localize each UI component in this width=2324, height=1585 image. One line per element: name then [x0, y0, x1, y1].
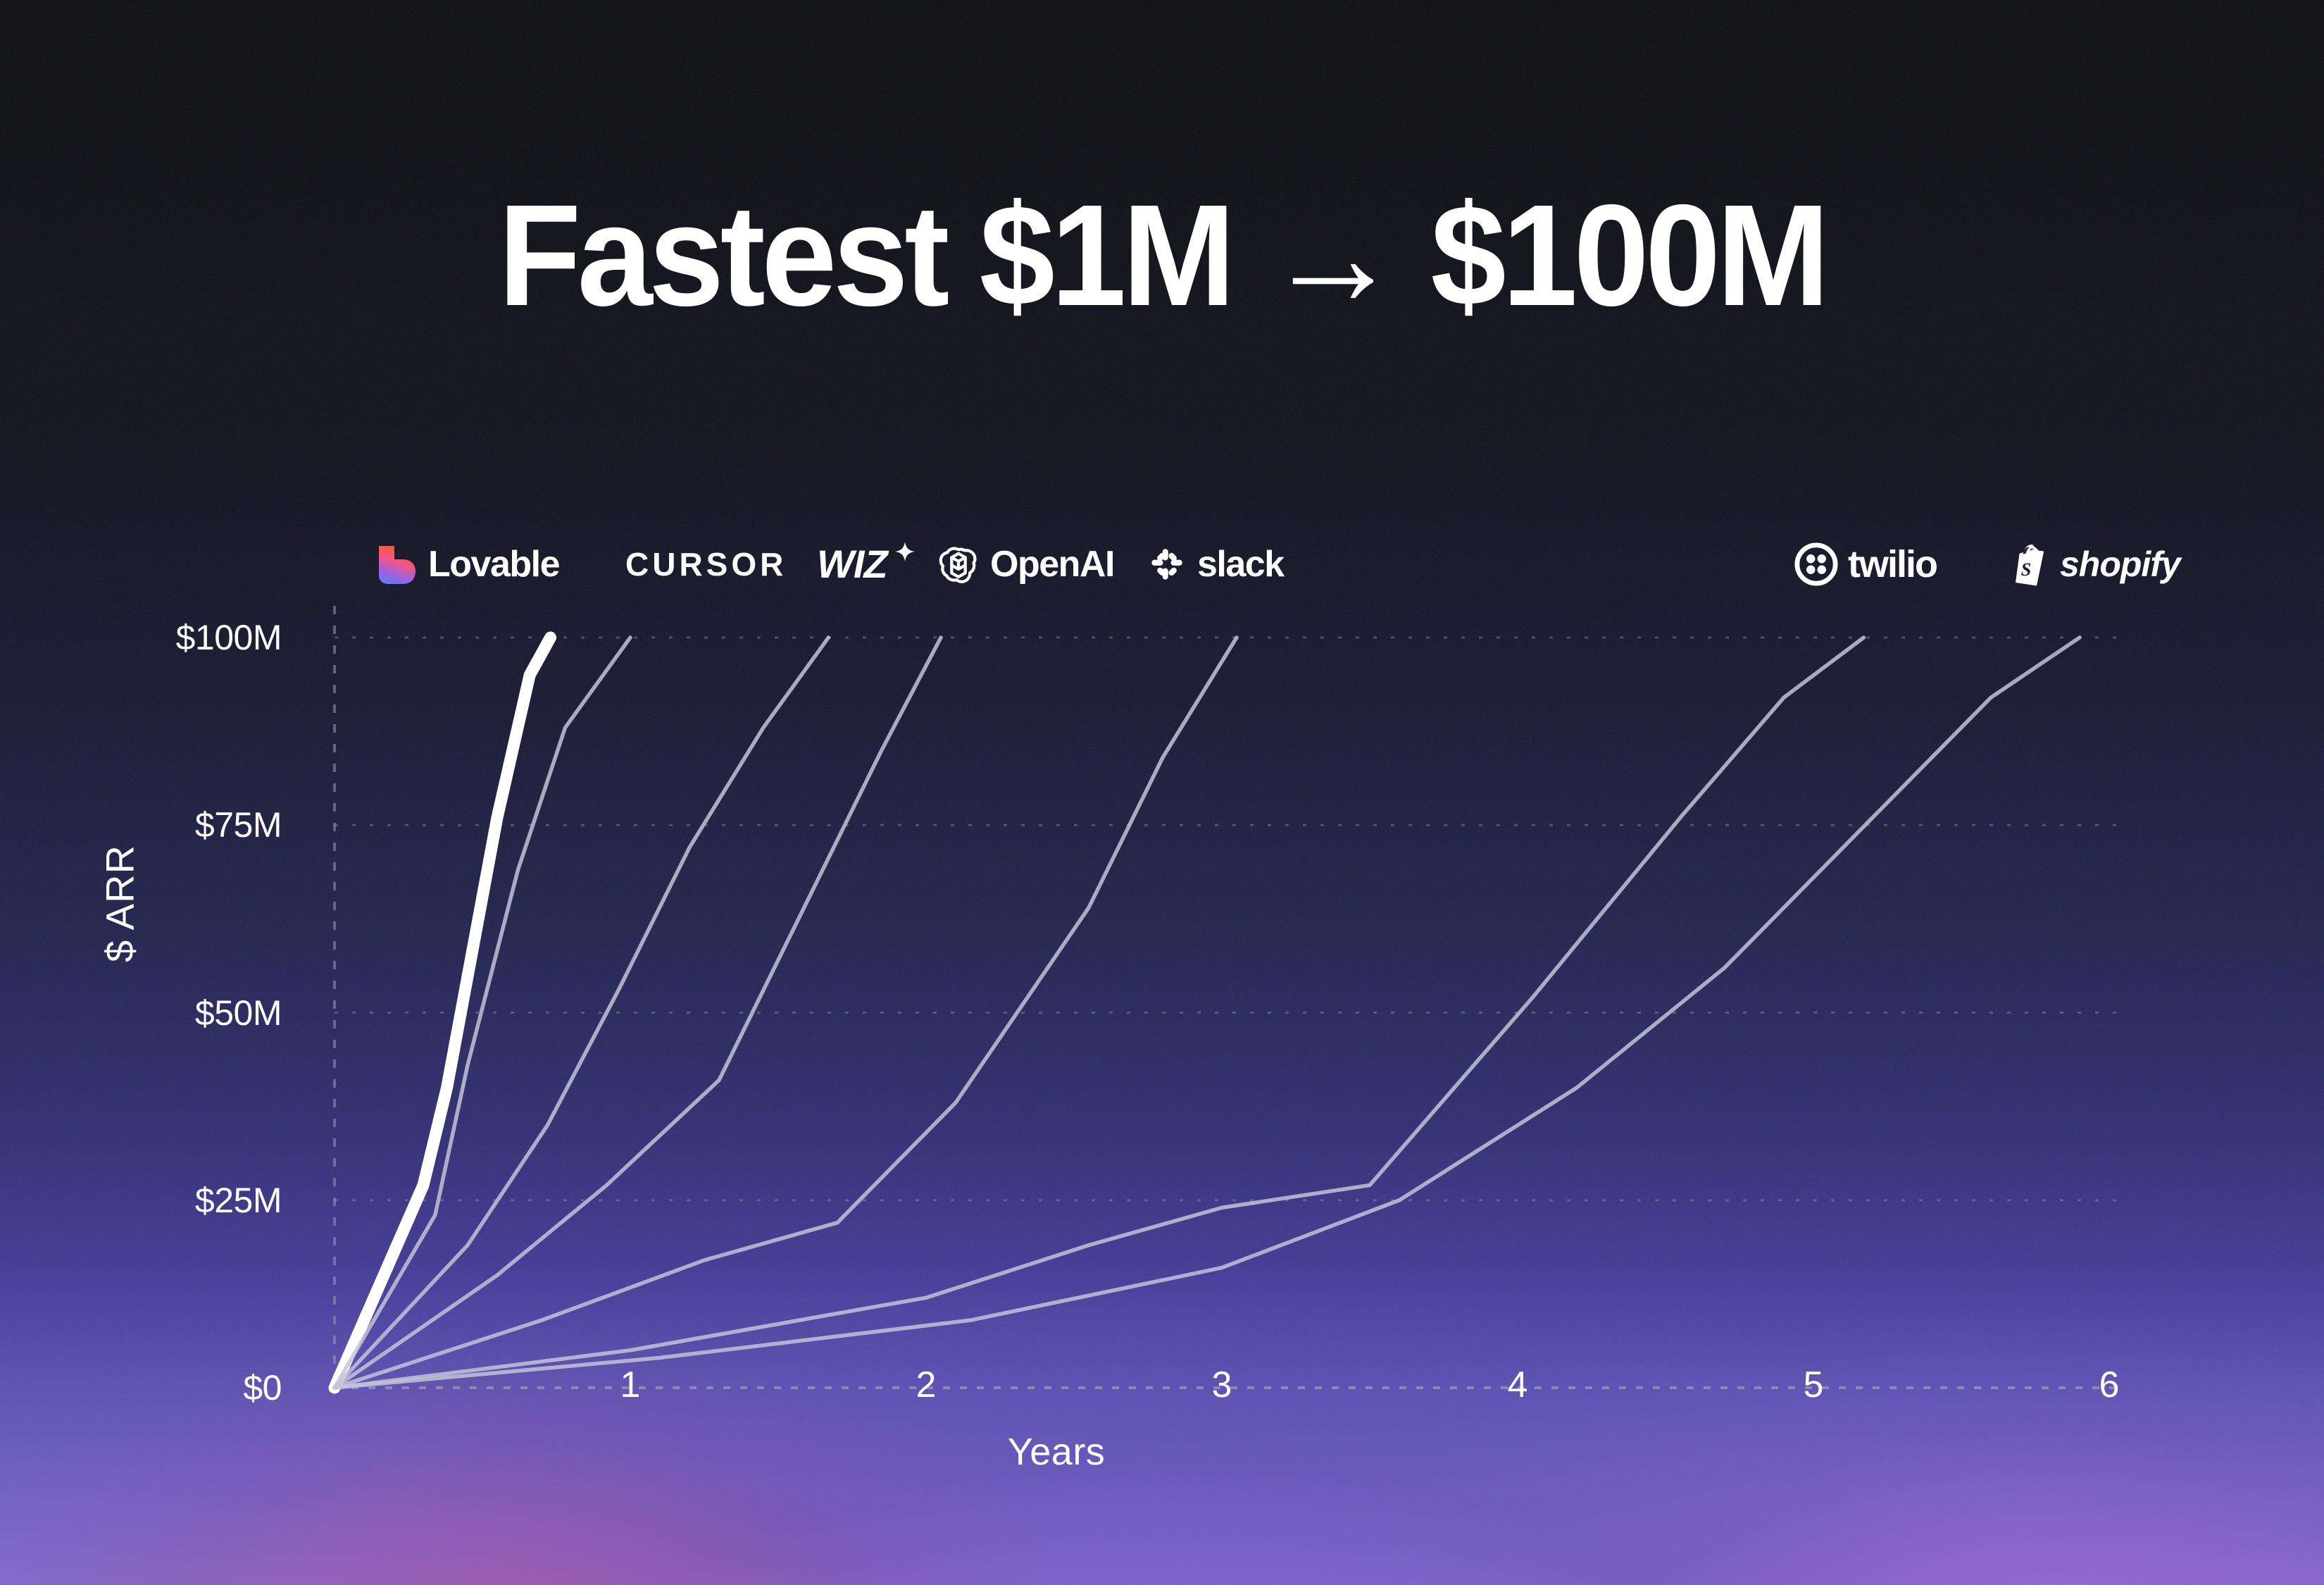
chart-series-lines: [335, 638, 2080, 1388]
x-tick-label: 3: [1180, 1364, 1264, 1406]
y-axis-title: $ ARR: [97, 763, 143, 1045]
series-line-slack: [335, 638, 1237, 1388]
chart-canvas: Fastest $1M → $100M Lovable CURSOR: [0, 0, 2324, 1585]
x-axis-title: Years: [916, 1430, 1197, 1474]
x-tick-label: 5: [1771, 1364, 1856, 1406]
y-tick-label: $25M: [42, 1180, 282, 1221]
x-tick-label: 2: [884, 1364, 968, 1406]
series-line-shopify: [335, 638, 2080, 1388]
x-tick-label: 4: [1475, 1364, 1560, 1406]
y-tick-label: $100M: [42, 617, 282, 658]
y-tick-label: $75M: [42, 804, 282, 845]
x-tick-label: 1: [588, 1364, 673, 1406]
chart-gridlines: [335, 606, 2120, 1388]
y-tick-label: $50M: [42, 993, 282, 1033]
x-tick-label: 6: [2067, 1364, 2151, 1406]
y-tick-label: $0: [42, 1367, 282, 1408]
line-chart-plot: [0, 0, 2324, 1585]
